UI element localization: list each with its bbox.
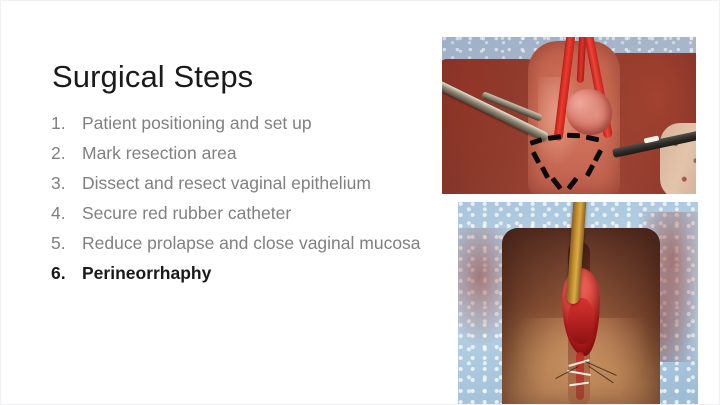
list-item-number: 6. (51, 258, 82, 288)
list-item-number: 4. (51, 198, 82, 228)
list-item-number: 3. (51, 168, 82, 198)
presentation-slide: Surgical Steps 1. Patient positioning an… (0, 0, 720, 405)
surgical-photo-top (442, 37, 696, 194)
surgical-photo-bottom (458, 202, 698, 405)
list-item: 1. Patient positioning and set up (51, 108, 451, 138)
surgical-steps-list: 1. Patient positioning and set up 2. Mar… (51, 108, 451, 288)
list-item: 4. Secure red rubber catheter (51, 198, 451, 228)
list-item-label: Patient positioning and set up (82, 108, 312, 138)
list-item-current-step: 6. Perineorrhaphy (51, 258, 451, 288)
list-item: 3. Dissect and resect vaginal epithelium (51, 168, 451, 198)
list-item-label: Reduce prolapse and close vaginal mucosa (82, 228, 421, 258)
prolapsed-mucosa (566, 89, 612, 135)
photo-bottom-content (458, 202, 698, 405)
list-item-label: Perineorrhaphy (82, 258, 211, 288)
prolapsed-vaginal-mucosa-inner (568, 298, 594, 344)
resection-marking-dash (567, 133, 580, 138)
list-item: 2. Mark resection area (51, 138, 451, 168)
photo-top-content (442, 37, 696, 194)
list-item-number: 1. (51, 108, 82, 138)
list-item-label: Dissect and resect vaginal epithelium (82, 168, 371, 198)
page-title: Surgical Steps (52, 58, 253, 96)
suture-line (576, 352, 584, 400)
list-item-label: Secure red rubber catheter (82, 198, 291, 228)
list-item-label: Mark resection area (82, 138, 237, 168)
list-item: 5. Reduce prolapse and close vaginal muc… (51, 228, 451, 258)
list-item-number: 5. (51, 228, 82, 258)
list-item-number: 2. (51, 138, 82, 168)
